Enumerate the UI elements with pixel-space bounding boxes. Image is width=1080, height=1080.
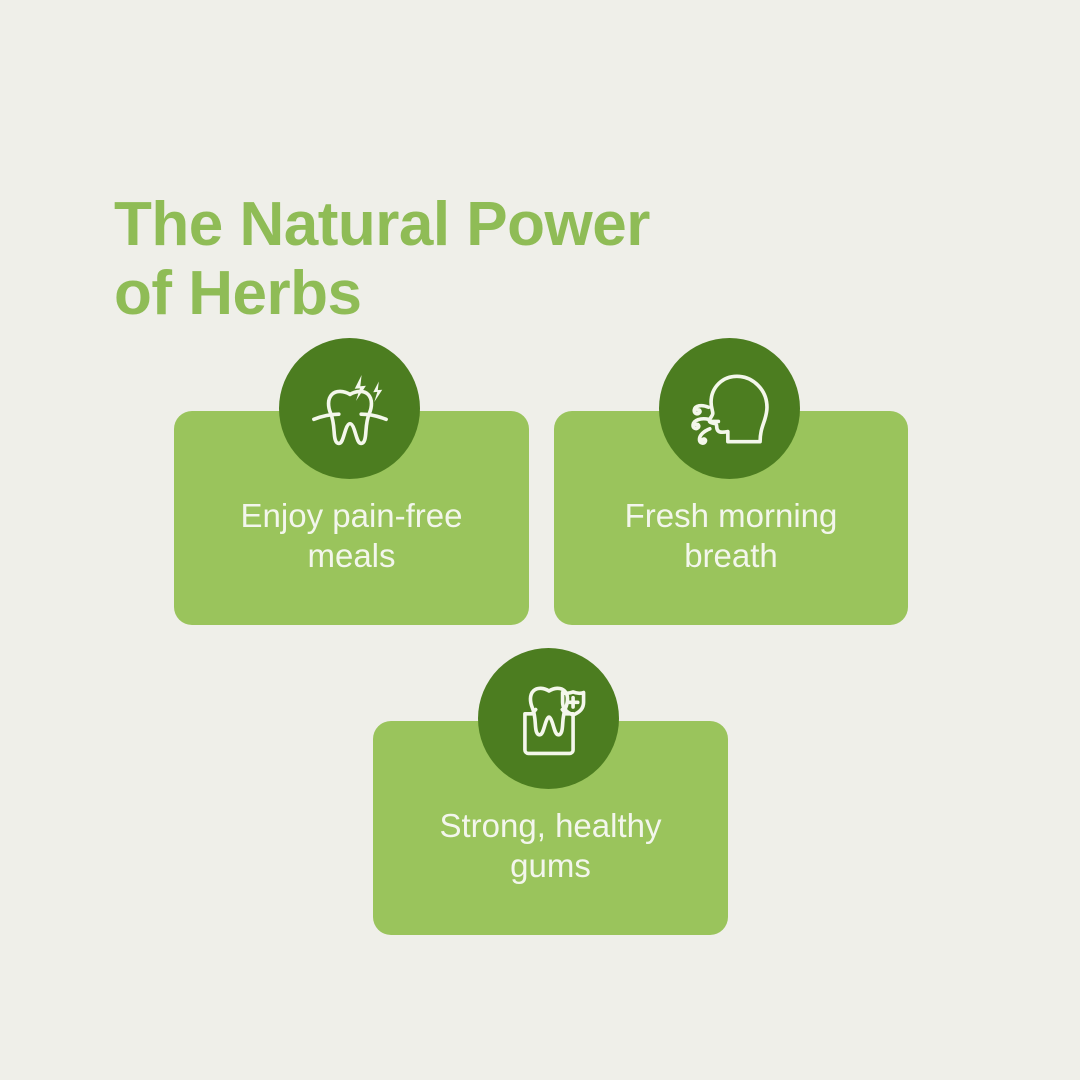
benefit-card-label: Fresh morning breath: [554, 496, 908, 577]
benefit-icon-badge: [279, 338, 420, 479]
benefit-card-label: Enjoy pain-free meals: [174, 496, 529, 577]
benefit-card-label: Strong, healthy gums: [373, 806, 728, 887]
head-breath-icon: [687, 366, 773, 452]
page-title: The Natural Power of Herbs: [114, 190, 754, 329]
benefit-icon-badge: [659, 338, 800, 479]
infographic-canvas: The Natural Power of Herbs Enjoy pain-fr…: [0, 0, 1080, 1080]
benefit-icon-badge: [478, 648, 619, 789]
tooth-pain-icon: [307, 366, 393, 452]
tooth-gums-shield-icon: [506, 676, 592, 762]
